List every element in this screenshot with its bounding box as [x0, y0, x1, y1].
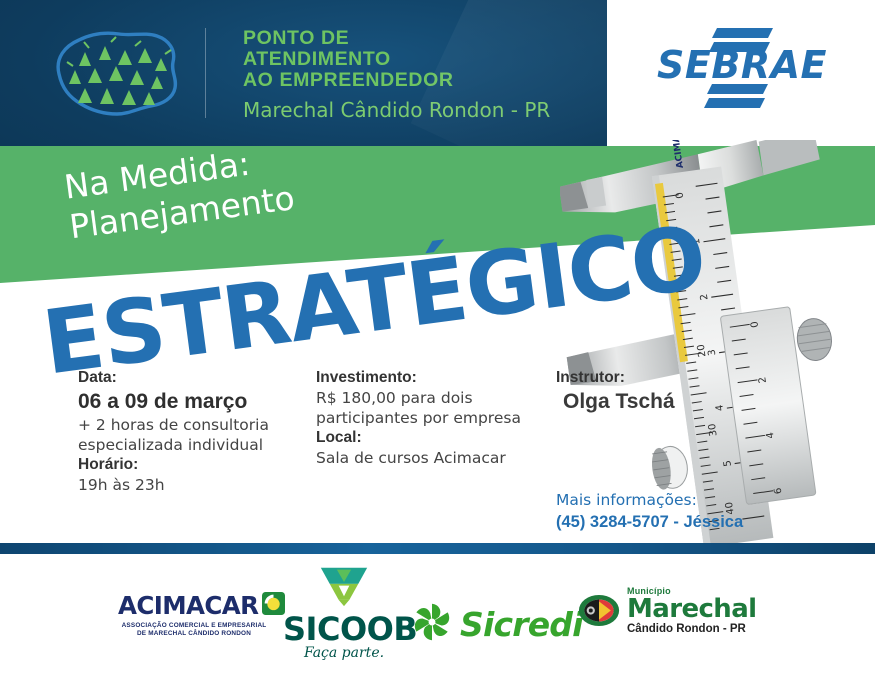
instructor-name: Olga Tschá	[556, 388, 796, 416]
investment-value-line-2: participantes por empresa	[316, 408, 548, 428]
date-label: Data:	[78, 368, 308, 388]
header-subtitle: Marechal Cândido Rondon - PR	[243, 97, 588, 123]
footer-divider	[0, 543, 875, 554]
sebrae-logo-area: SEBRAE	[607, 0, 875, 146]
investment-label: Investimento:	[316, 368, 548, 388]
parana-state-map-with-pine-trees-icon	[45, 18, 190, 128]
marechal-crest-icon	[578, 594, 620, 632]
header-vertical-divider	[205, 28, 206, 118]
time-label: Horário:	[78, 455, 308, 475]
info-column-investment: Investimento: R$ 180,00 para dois partic…	[316, 368, 548, 468]
sicoob-wordmark: SICOOB	[283, 612, 405, 646]
info-column-instructor: Instrutor: Olga Tschá	[556, 368, 796, 416]
sicredi-logo: Sicredi	[412, 602, 583, 647]
marechal-wordmark: Marechal	[627, 596, 756, 623]
event-info-block: Data: 06 a 09 de março + 2 horas de cons…	[0, 368, 875, 538]
header-title-line-2: ATENDIMENTO	[243, 49, 588, 70]
time-value: 19h às 23h	[78, 475, 308, 495]
date-extra-line-2: especializada individual	[78, 435, 308, 455]
contact-label: Mais informações:	[556, 490, 816, 511]
header-title-line-1: PONTO DE	[243, 28, 588, 49]
investment-value-line-1: R$ 180,00 para dois	[316, 388, 548, 408]
svg-text:SEBRAE: SEBRAE	[657, 43, 827, 87]
date-extra-line-1: + 2 horas de consultoria	[78, 415, 308, 435]
sicredi-wordmark: Sicredi	[460, 608, 583, 642]
info-column-date: Data: 06 a 09 de março + 2 horas de cons…	[78, 368, 308, 495]
header-title-block: PONTO DE ATENDIMENTO AO EMPREENDEDOR Mar…	[243, 28, 588, 123]
sicredi-pinwheel-icon	[412, 602, 452, 647]
marechal-municipality-logo: Município Marechal Cândido Rondon - PR	[578, 586, 756, 636]
contact-block: Mais informações: (45) 3284-5707 - Jéssi…	[556, 490, 816, 533]
sicoob-logo: SICOOB Faça parte.	[283, 566, 405, 661]
instructor-label: Instrutor:	[556, 368, 796, 388]
date-value: 06 a 09 de março	[78, 388, 308, 415]
sicoob-triangle-icon	[319, 594, 369, 611]
acimacar-sun-icon	[262, 592, 285, 620]
sebrae-logo: SEBRAE	[655, 26, 830, 112]
event-poster: PONTO DE ATENDIMENTO AO EMPREENDEDOR Mar…	[0, 0, 875, 681]
header-title-line-3: AO EMPREENDEDOR	[243, 70, 588, 91]
acimacar-wordmark: ACIMACAR	[118, 593, 258, 619]
place-value: Sala de cursos Acimacar	[316, 448, 548, 468]
marechal-subtitle: Cândido Rondon - PR	[627, 623, 756, 636]
course-subtitle: Na Medida: Planejamento	[62, 138, 297, 247]
acimacar-logo: ACIMACAR ASSOCIAÇÃO COMERCIAL E EMPRESAR…	[118, 592, 270, 639]
acimacar-subtitle-line-2: DE MARECHAL CÂNDIDO RONDON	[118, 630, 270, 638]
contact-phone[interactable]: (45) 3284-5707 - Jéssica	[556, 511, 816, 533]
sponsor-footer: ACIMACAR ASSOCIAÇÃO COMERCIAL E EMPRESAR…	[0, 554, 875, 681]
place-label: Local:	[316, 428, 548, 448]
poster-header: PONTO DE ATENDIMENTO AO EMPREENDEDOR Mar…	[0, 0, 607, 146]
